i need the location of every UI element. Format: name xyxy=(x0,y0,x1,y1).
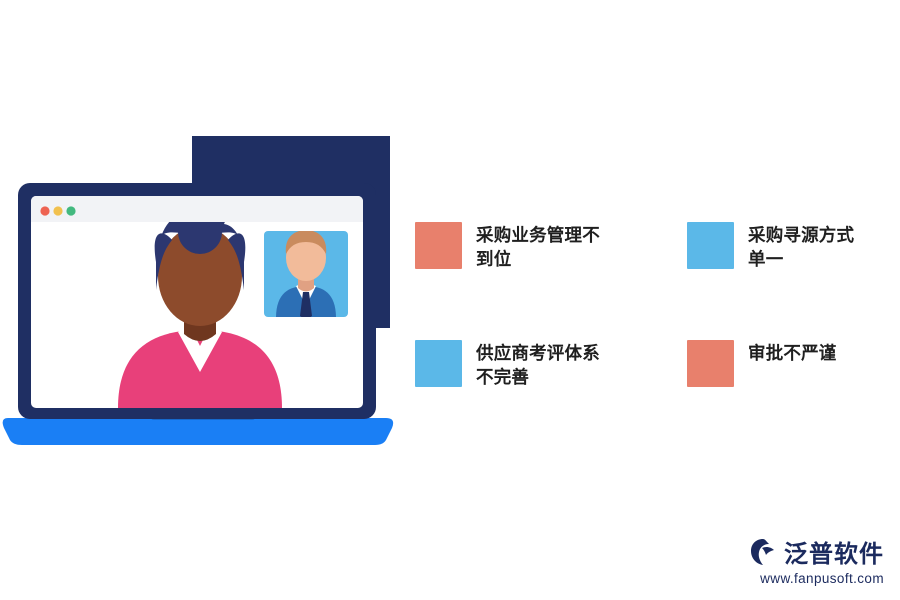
browser-bar xyxy=(31,196,363,222)
watermark-brand: 泛普软件 xyxy=(748,534,884,569)
fanpu-logo-icon xyxy=(748,537,778,567)
legend-item-0[interactable]: 采购业务管理不 到位 xyxy=(415,222,600,271)
color-swatch-icon xyxy=(687,340,734,387)
laptop-base xyxy=(3,418,393,445)
legend-item-3[interactable]: 审批不严谨 xyxy=(687,340,837,387)
video-inset xyxy=(261,228,351,320)
legend-item-label: 采购寻源方式 单一 xyxy=(748,222,854,271)
legend-item-2[interactable]: 供应商考评体系 不完善 xyxy=(415,340,600,389)
watermark: 泛普软件 www.fanpusoft.com xyxy=(748,534,884,586)
legend-item-1[interactable]: 采购寻源方式 单一 xyxy=(687,222,854,271)
color-swatch-icon xyxy=(415,222,462,269)
legend-item-label: 审批不严谨 xyxy=(748,340,837,365)
legend-item-label: 采购业务管理不 到位 xyxy=(476,222,600,271)
color-swatch-icon xyxy=(415,340,462,387)
browser-dot-yellow xyxy=(53,206,62,215)
illustration-laptop-video-call xyxy=(0,0,420,470)
illustration-svg xyxy=(0,0,420,470)
browser-dot-green xyxy=(66,206,75,215)
watermark-url: www.fanpusoft.com xyxy=(760,571,884,586)
color-swatch-icon xyxy=(687,222,734,269)
watermark-name: 泛普软件 xyxy=(784,534,884,569)
legend-item-label: 供应商考评体系 不完善 xyxy=(476,340,600,389)
browser-dot-red xyxy=(40,206,49,215)
legend-list: 采购业务管理不 到位 采购寻源方式 单一 供应商考评体系 不完善 审批不严谨 xyxy=(415,222,895,402)
